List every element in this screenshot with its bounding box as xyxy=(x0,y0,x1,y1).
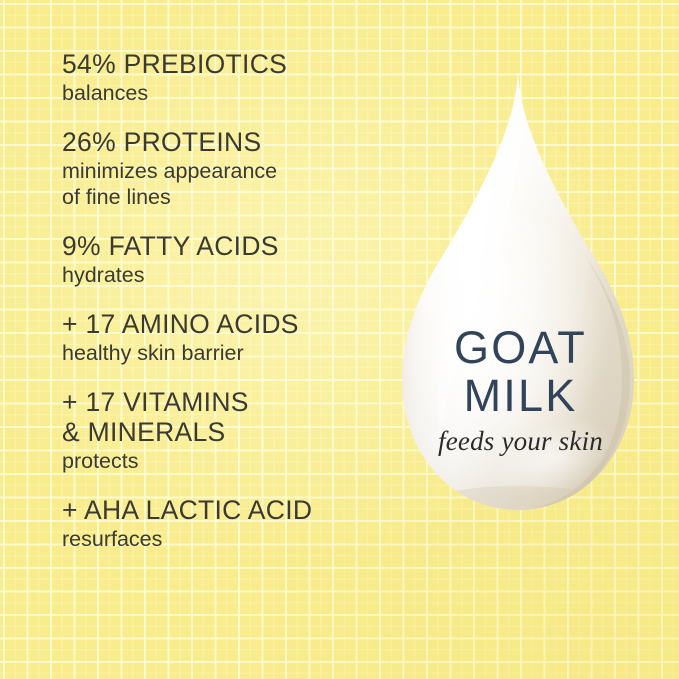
droplet-icon xyxy=(378,60,663,555)
benefit-item-amino-acids: + 17 AMINO ACIDS healthy skin barrier xyxy=(62,309,392,366)
benefit-subtitle: healthy skin barrier xyxy=(62,340,392,366)
benefit-title: + 17 AMINO ACIDS xyxy=(62,309,392,339)
milk-droplet-illustration xyxy=(378,60,663,555)
benefit-subtitle: minimizes appearance of fine lines xyxy=(62,158,392,210)
benefit-subtitle: resurfaces xyxy=(62,526,392,552)
benefit-subtitle: hydrates xyxy=(62,262,392,288)
droplet-shading xyxy=(378,60,663,555)
goat-milk-benefits-infographic: 54% PREBIOTICS balances 26% PROTEINS min… xyxy=(0,0,679,679)
benefit-item-proteins: 26% PROTEINS minimizes appearance of fin… xyxy=(62,127,392,210)
benefit-subtitle: balances xyxy=(62,80,392,106)
benefit-item-aha-lactic-acid: + AHA LACTIC ACID resurfaces xyxy=(62,495,392,552)
benefit-subtitle: protects xyxy=(62,448,392,474)
benefit-title: 54% PREBIOTICS xyxy=(62,49,392,79)
benefit-title: 9% FATTY ACIDS xyxy=(62,231,392,261)
benefit-item-fatty-acids: 9% FATTY ACIDS hydrates xyxy=(62,231,392,288)
benefit-item-vitamins-minerals: + 17 VITAMINS & MINERALS protects xyxy=(62,387,392,474)
benefit-item-prebiotics: 54% PREBIOTICS balances xyxy=(62,49,392,106)
benefit-title: + 17 VITAMINS & MINERALS xyxy=(62,387,392,447)
benefit-title: + AHA LACTIC ACID xyxy=(62,495,392,525)
benefits-list: 54% PREBIOTICS balances 26% PROTEINS min… xyxy=(62,49,392,573)
benefit-title: 26% PROTEINS xyxy=(62,127,392,157)
